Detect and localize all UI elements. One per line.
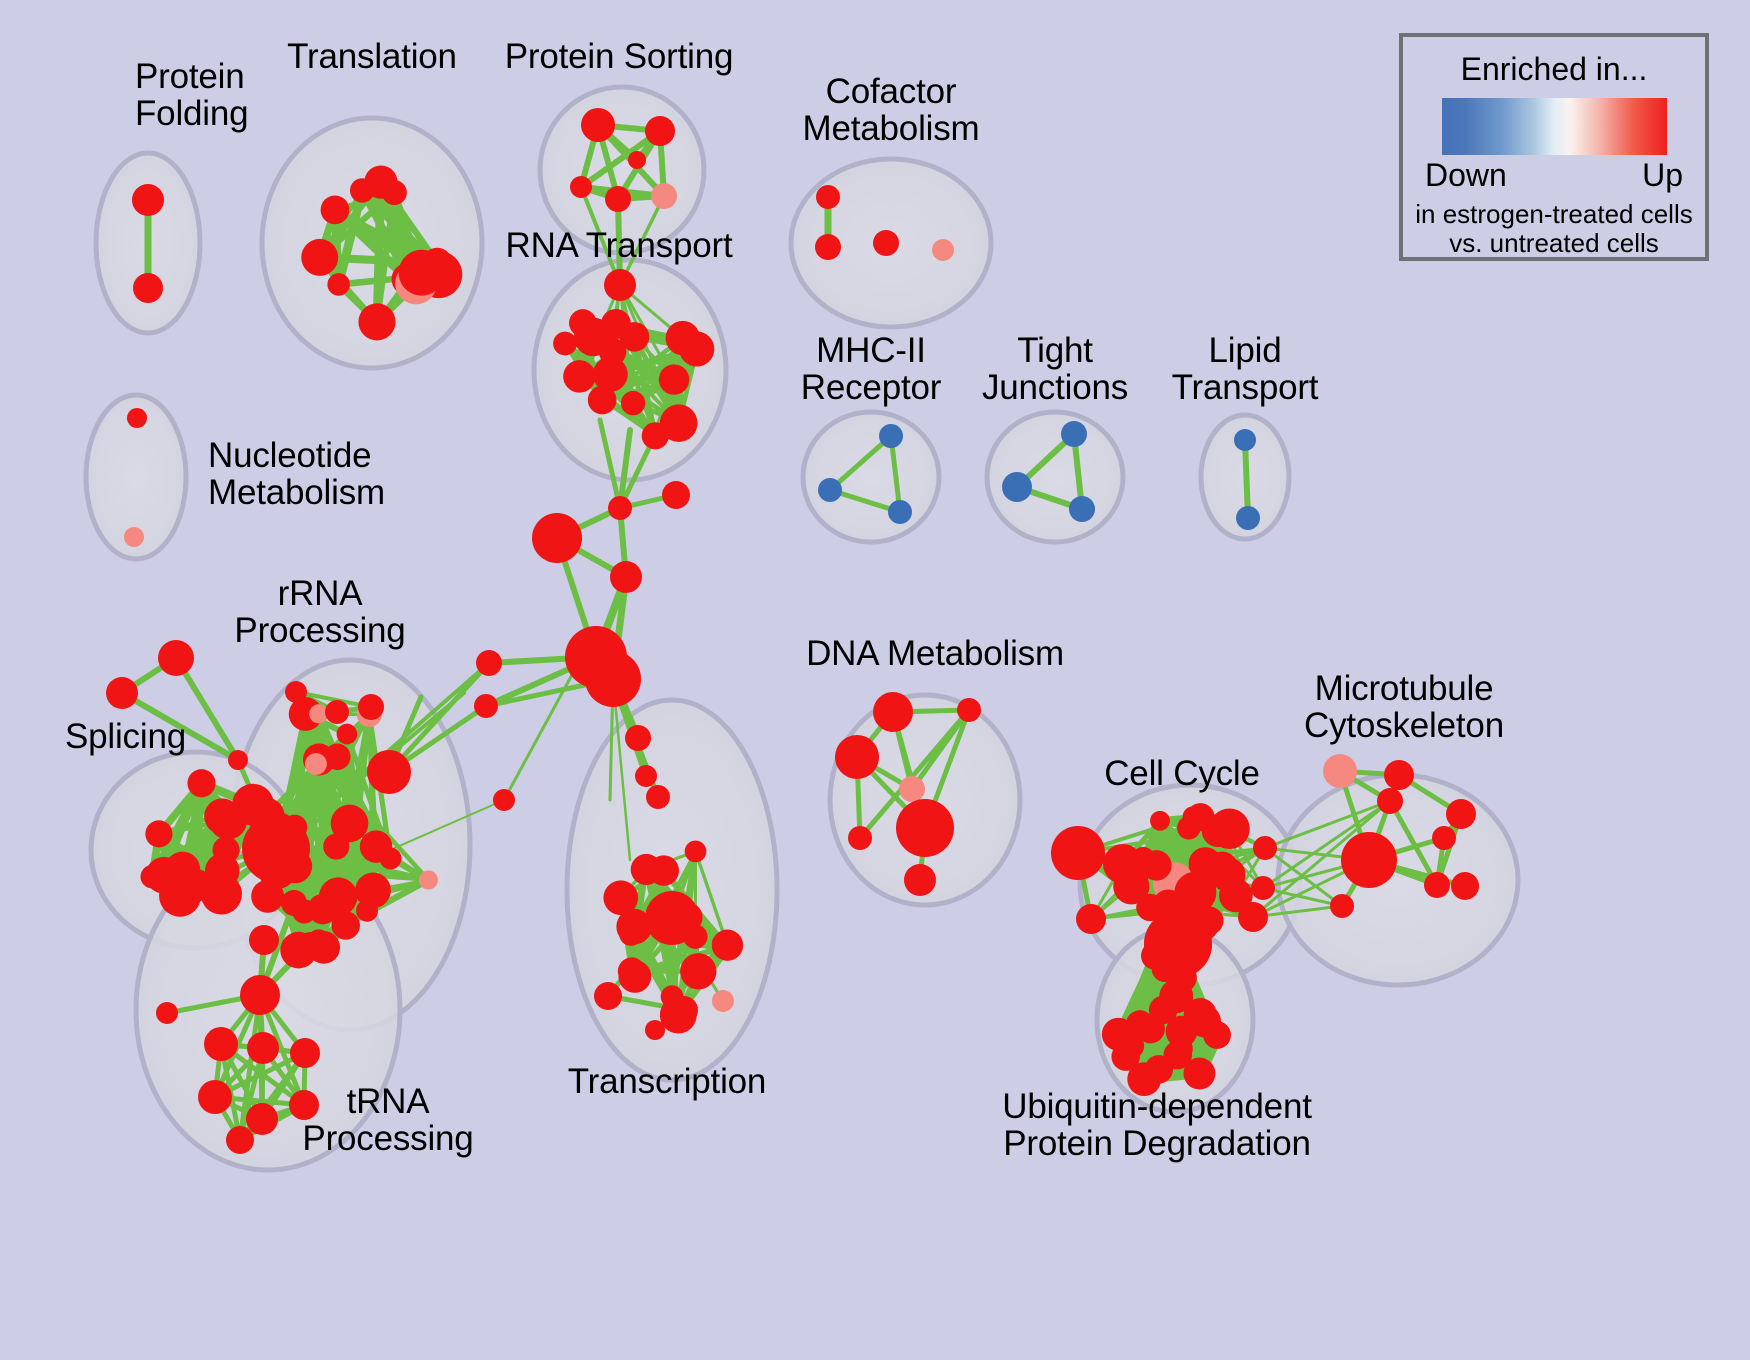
network-node [605,186,631,212]
network-node [904,864,936,896]
network-node [301,239,338,276]
network-node [581,108,615,142]
cluster-label-trna-processing: tRNA Processing [302,1083,473,1157]
cluster-label-cofactor-metabolism: Cofactor Metabolism [803,73,980,147]
network-node [156,1002,178,1024]
network-node [133,273,163,303]
network-node [645,116,675,146]
cluster-label-splicing: Splicing [65,718,186,755]
cluster-ellipse-mhc-ii-receptor [803,412,939,542]
network-node [132,184,164,216]
network-node [1150,811,1170,831]
network-node [816,185,840,209]
network-node [419,870,438,889]
network-node [1384,760,1414,790]
network-node [474,694,498,718]
network-node [815,234,841,260]
network-node [1211,857,1246,892]
network-node [569,309,597,337]
network-node [476,650,502,676]
cluster-label-translation: Translation [287,38,457,75]
network-node [594,982,622,1010]
network-node [1330,894,1354,918]
network-node [1323,754,1357,788]
network-node [932,239,954,261]
cluster-label-nucleotide-metabolism: Nucleotide Metabolism [208,437,385,511]
network-node [319,877,357,915]
network-node [290,1038,320,1068]
network-node [246,1103,278,1135]
network-node [601,309,631,339]
network-node [818,478,842,502]
network-node [848,826,872,850]
network-node [1432,826,1456,850]
network-node [285,681,307,703]
network-node [205,853,240,888]
network-node [321,195,350,224]
network-node [604,269,636,301]
cluster-label-rrna-processing: rRNA Processing [234,575,405,649]
network-node [645,1020,665,1040]
cluster-label-protein-sorting: Protein Sorting [505,38,734,75]
cluster-label-lipid-transport: Lipid Transport [1172,332,1319,406]
network-node [358,303,395,340]
network-node [1076,904,1106,934]
network-node [1451,872,1479,900]
network-node [209,801,247,839]
network-node [281,890,307,916]
network-node [1341,832,1397,888]
network-node [1002,472,1032,502]
network-node [145,820,172,847]
cluster-label-mhc-ii-receptor: MHC-II Receptor [801,332,941,406]
network-node [1166,1016,1198,1048]
legend-up-label: Up [1642,157,1683,194]
cluster-label-protein-folding: Protein Folding [135,58,248,132]
network-node [670,996,698,1024]
network-node [1253,836,1277,860]
network-node [242,815,310,883]
network-node [226,1126,254,1154]
network-node [659,364,689,394]
network-node [228,750,248,770]
network-node [585,651,641,707]
network-node [187,769,215,797]
network-node [1069,496,1095,522]
network-node [619,922,643,946]
network-node [628,151,646,169]
network-node [1424,872,1450,898]
network-node [662,481,690,509]
network-node [1061,421,1087,447]
network-node [251,880,284,913]
network-node [1234,429,1256,451]
cluster-label-rna-transport: RNA Transport [506,227,733,264]
network-node [603,880,638,915]
cluster-label-dna-metabolism: DNA Metabolism [806,635,1064,672]
network-node [1111,1042,1139,1070]
network-node [888,500,912,524]
network-node [1122,863,1148,889]
network-node [1183,1058,1215,1090]
network-node [896,799,954,857]
network-node [618,960,651,993]
network-node [140,865,164,889]
network-node [165,852,200,887]
network-node [957,698,981,722]
network-node [337,724,358,745]
network-node [493,789,515,811]
network-node [158,640,194,676]
legend-endpoints: Down Up [1403,157,1705,194]
cluster-label-ubiquitin-degradation: Ubiquitin-dependent Protein Degradation [1002,1088,1312,1162]
network-node [553,332,577,356]
network-node [124,527,144,547]
network-node [299,932,321,954]
legend-subtitle-line1: in estrogen-treated cells [1403,200,1705,229]
network-node [380,847,402,869]
network-node [679,331,714,366]
network-node [1251,876,1275,900]
color-gradient-bar [1442,98,1667,155]
network-node [621,391,645,415]
network-node [240,975,280,1015]
cluster-label-tight-junctions: Tight Junctions [982,332,1128,406]
network-node [1136,1014,1165,1043]
network-node [570,176,592,198]
network-node [635,765,657,787]
legend-subtitle-line2: vs. untreated cells [1403,229,1705,258]
network-node [649,855,679,885]
network-figure: Protein FoldingTranslationProtein Sortin… [0,0,1750,1360]
network-node [879,424,903,448]
network-node [331,805,369,843]
legend-title: Enriched in... [1403,51,1705,88]
network-node [532,513,582,563]
network-node [382,180,407,205]
network-node [204,1027,238,1061]
network-node [680,953,716,989]
network-node [249,925,279,955]
network-node [1446,799,1476,829]
network-node [712,990,734,1012]
network-node [1051,826,1105,880]
network-node [327,273,350,296]
network-node [106,677,138,709]
network-node [608,496,632,520]
network-node [350,178,374,202]
cluster-label-microtubule-cytoskeleton: Microtubule Cytoskeleton [1304,670,1504,744]
network-node [610,561,642,593]
network-node [899,776,925,802]
network-node [305,753,327,775]
network-node [646,785,670,809]
network-node [685,841,707,863]
network-node [1203,1021,1231,1049]
network-node [645,891,699,945]
network-node [873,692,913,732]
cluster-label-cell-cycle: Cell Cycle [1104,755,1260,792]
network-node [835,735,879,779]
network-node [717,938,739,960]
network-node [1377,788,1403,814]
network-node [625,725,651,751]
network-node [873,230,899,256]
legend-box: Enriched in... Down Up in estrogen-treat… [1399,33,1709,261]
cluster-label-transcription: Transcription [568,1063,766,1100]
network-node [247,1032,279,1064]
legend-down-label: Down [1425,157,1507,194]
network-node [660,404,698,442]
network-node [198,1080,232,1114]
network-node [367,750,411,794]
network-node [325,700,349,724]
network-node [1238,902,1268,932]
network-node [356,900,378,922]
network-node [1186,803,1214,831]
network-node [1236,506,1260,530]
network-node [399,250,445,296]
network-node [651,183,677,209]
network-node [127,408,147,428]
network-node [358,694,384,720]
network-node [563,360,596,393]
network-node [1144,910,1212,978]
